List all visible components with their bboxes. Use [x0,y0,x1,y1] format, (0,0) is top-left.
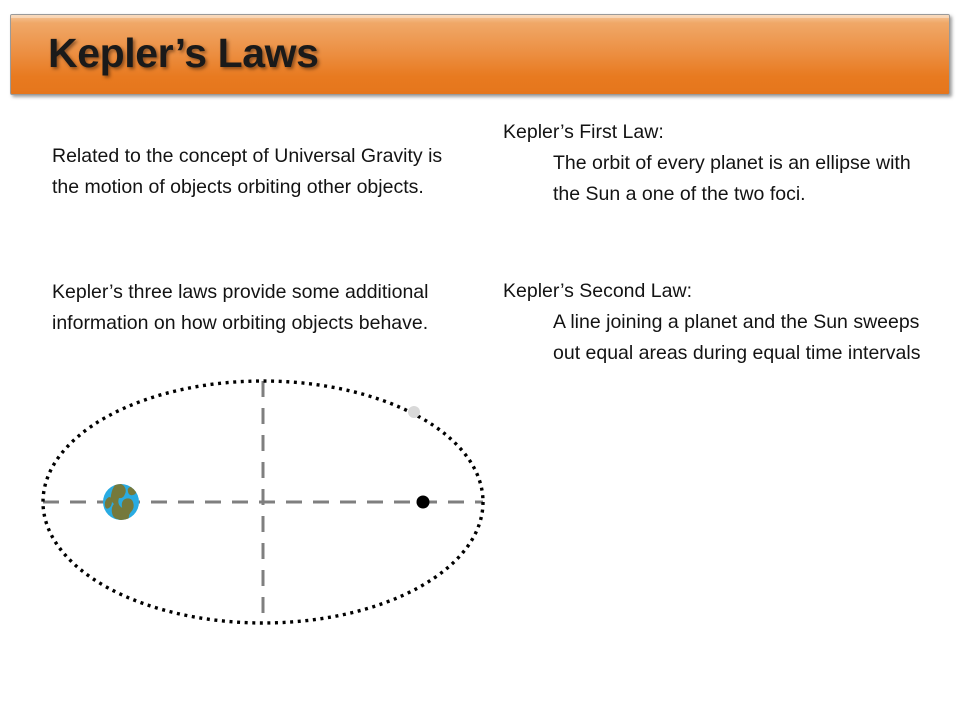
kepler-second-law-body: A line joining a planet and the Sun swee… [553,307,925,369]
elliptical-orbit-diagram [20,366,500,641]
left-paragraph-intro: Related to the concept of Universal Grav… [52,141,444,203]
page-title: Kepler’s Laws [48,30,319,77]
second-focus-dot [417,496,430,509]
kepler-first-law-body: The orbit of every planet is an ellipse … [553,148,925,210]
slide-title-banner: Kepler’s Laws [10,14,950,95]
orbiting-body-dot [408,406,420,418]
kepler-first-law-heading: Kepler’s First Law: [503,117,923,148]
left-paragraph-three-laws: Kepler’s three laws provide some additio… [52,277,444,339]
earth-globe-icon [103,484,139,529]
kepler-second-law-heading: Kepler’s Second Law: [503,276,923,307]
